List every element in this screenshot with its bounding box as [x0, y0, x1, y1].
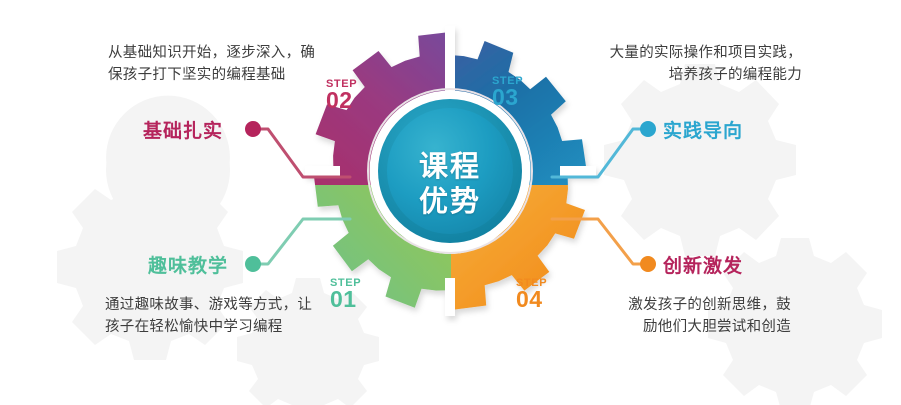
step-number-step04: 04 [516, 286, 547, 313]
feature-title-step04: 创新激发 [663, 252, 743, 281]
step-number-step01: 01 [330, 286, 361, 313]
feature-desc-step03: 大量的实际操作和项目实践， 培养孩子的编程能力 [610, 42, 802, 87]
feature-desc-step04-line1: 激发孩子的创新思维，鼓 [628, 294, 791, 316]
connector-line-step01 [258, 219, 350, 264]
center-title-line1: 课程 [370, 150, 530, 185]
feature-desc-step04-line2: 励他们大胆尝试和创造 [628, 316, 791, 338]
connector-dot-step02 [245, 121, 261, 137]
connector-dot-step01 [245, 256, 261, 272]
connector-dot-step03 [640, 121, 656, 137]
feature-title-step02: 基础扎实 [143, 117, 223, 146]
feature-desc-step03-line1: 大量的实际操作和项目实践， [610, 42, 802, 64]
feature-desc-step02-line2: 保孩子打下坚实的编程基础 [108, 64, 315, 86]
step-badge-step04: STEP 04 [516, 277, 547, 313]
step-badge-step02: STEP 02 [326, 78, 357, 114]
feature-title-step03: 实践导向 [663, 117, 743, 146]
feature-title-step01: 趣味教学 [148, 252, 228, 281]
step-number-step03: 03 [492, 84, 523, 111]
center-title-line2: 优势 [370, 185, 530, 220]
infographic-canvas: 课程 优势 从基础知识开始，逐步深入，确 保孩子打下坚实的编程基础 基础扎实 S… [0, 0, 901, 405]
feature-desc-step02: 从基础知识开始，逐步深入，确 保孩子打下坚实的编程基础 [108, 42, 315, 87]
feature-desc-step02-line1: 从基础知识开始，逐步深入，确 [108, 42, 315, 64]
step-badge-step03: STEP 03 [492, 75, 523, 111]
feature-desc-step01-line2: 孩子在轻松愉快中学习编程 [105, 316, 312, 338]
center-title: 课程 优势 [370, 150, 530, 221]
feature-desc-step03-line2: 培养孩子的编程能力 [610, 64, 802, 86]
feature-desc-step04: 激发孩子的创新思维，鼓 励他们大胆尝试和创造 [628, 294, 791, 339]
feature-desc-step01: 通过趣味故事、游戏等方式，让 孩子在轻松愉快中学习编程 [105, 294, 312, 339]
step-badge-step01: STEP 01 [330, 277, 361, 313]
step-number-step02: 02 [326, 87, 357, 114]
connector-dot-step04 [640, 256, 656, 272]
feature-desc-step01-line1: 通过趣味故事、游戏等方式，让 [105, 294, 312, 316]
